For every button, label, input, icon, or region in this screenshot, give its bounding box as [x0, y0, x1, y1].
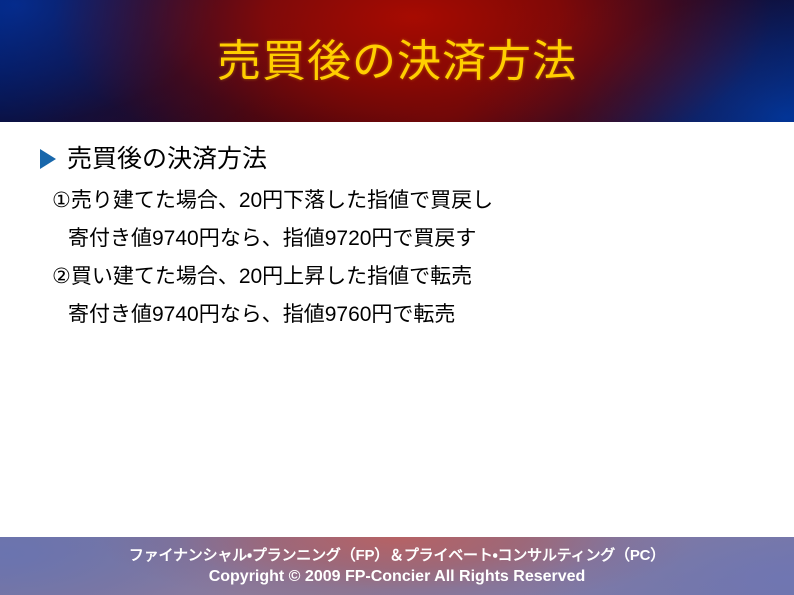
triangle-right-icon — [40, 149, 56, 169]
slide-footer: ファイナンシャル・プランニング（FP）＆プライベート・コンサルティング（PC） … — [0, 537, 794, 595]
content-line: ②買い建てた場合、20円上昇した指値で転売 — [0, 258, 794, 296]
content-line-list: ①売り建てた場合、20円下落した指値で買戻し 寄付き値9740円なら、指値972… — [0, 182, 794, 334]
content-line: ①売り建てた場合、20円下落した指値で買戻し — [0, 182, 794, 220]
section-heading-label: 売買後の決済方法 — [67, 144, 267, 174]
section-heading: 売買後の決済方法 — [40, 144, 267, 174]
content-line: 寄付き値9740円なら、指値9720円で買戻す — [0, 220, 794, 258]
footer-company-line: ファイナンシャル・プランニング（FP）＆プライベート・コンサルティング（PC） — [129, 546, 665, 566]
slide-body: 売買後の決済方法 ①売り建てた場合、20円下落した指値で買戻し 寄付き値9740… — [0, 122, 794, 537]
slide-root: 売買後の決済方法 売買後の決済方法 ①売り建てた場合、20円下落した指値で買戻し… — [0, 0, 794, 595]
content-line: 寄付き値9740円なら、指値9760円で転売 — [0, 296, 794, 334]
slide-title: 売買後の決済方法 — [0, 34, 794, 90]
slide-header-banner: 売買後の決済方法 — [0, 0, 794, 122]
footer-copyright-line: Copyright © 2009 FP-Concier All Rights R… — [209, 566, 586, 587]
